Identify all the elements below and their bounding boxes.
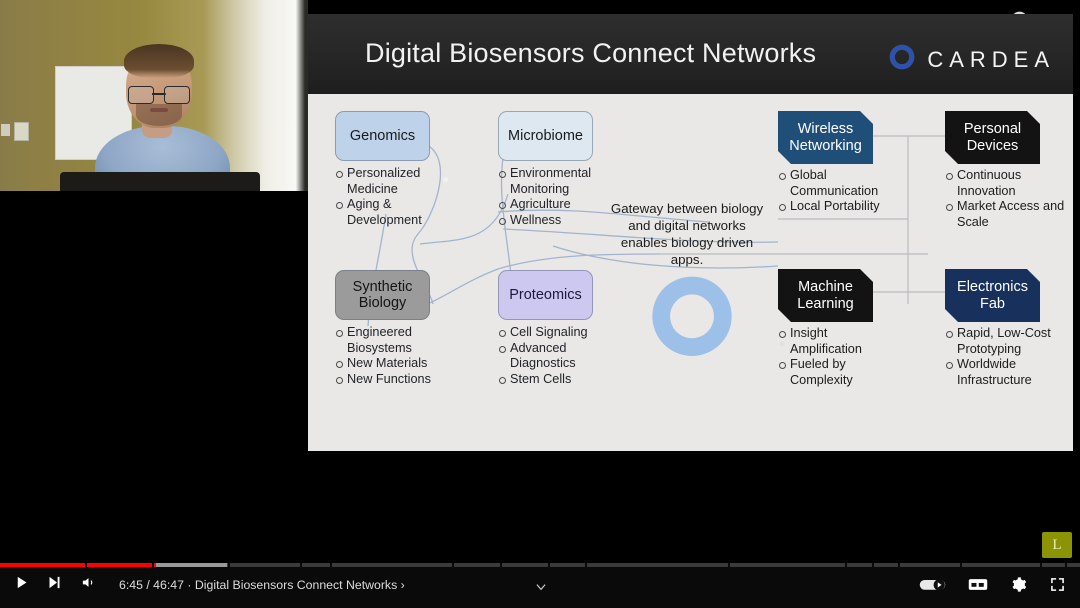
wall-switch [14,122,29,141]
node-label: Electronics Fab [945,279,1040,311]
time-display: 6:45 / 46:47 [119,578,184,592]
bullets-personal-devices: ContinuousInnovation Market Access andSc… [946,168,1066,230]
chapter-markers [0,563,1080,567]
node-microbiome[interactable]: Microbiome [498,111,593,161]
node-proteomics[interactable]: Proteomics [498,270,593,320]
time-and-chapter: 6:45 / 46:47 · Digital Biosensors Connec… [119,578,405,592]
slide-title: Digital Biosensors Connect Networks [365,38,816,69]
slide-header: Digital Biosensors Connect Networks CARD… [308,14,1073,94]
gateway-description: Gateway between biology and digital netw… [604,201,770,269]
glasses-icon [128,86,190,102]
presentation-slide: Digital Biosensors Connect Networks CARD… [308,14,1073,451]
node-label: Genomics [350,128,415,144]
chapter-title[interactable]: Digital Biosensors Connect Networks [195,578,397,592]
progress-bar[interactable] [0,563,1080,567]
fullscreen-button[interactable] [1049,576,1066,598]
left-controls: 6:45 / 46:47 · Digital Biosensors Connec… [14,575,405,595]
bullets-proteomics: Cell Signaling AdvancedDiagnostics Stem … [499,325,614,387]
bullets-electronics-fab: Rapid, Low-CostPrototyping WorldwideInfr… [946,326,1068,388]
node-label: Machine Learning [778,279,873,311]
play-button[interactable] [14,575,29,595]
node-label: Proteomics [509,287,582,303]
right-controls [919,576,1066,598]
node-label: Personal Devices [945,121,1040,153]
node-label: Synthetic Biology [336,279,429,311]
cardea-logo-icon [887,44,917,75]
next-button[interactable] [47,575,62,595]
subtitles-button[interactable] [968,577,988,597]
video-player: Digital Biosensors and the Internet of B… [0,0,1080,608]
speaker-hair [124,44,194,78]
chevron-down-icon[interactable] [534,580,548,599]
wall-plate [1,124,10,136]
desk [60,172,260,191]
volume-button[interactable] [80,575,97,595]
webcam-overlay [0,0,308,191]
cardea-gateway-logo-icon [638,276,746,371]
node-label: Microbiome [508,128,583,144]
player-controls-bar: 6:45 / 46:47 · Digital Biosensors Connec… [0,566,1080,608]
settings-button[interactable] [1010,576,1027,598]
speaker-mouth [150,108,168,112]
bullets-synthetic-biology: EngineeredBiosystems New Materials New F… [336,325,446,387]
bullets-microbiome: EnvironmentalMonitoring Agriculture Well… [499,166,614,228]
node-machine-learning[interactable]: Machine Learning [778,269,873,322]
node-synthetic-biology[interactable]: Synthetic Biology [335,270,430,320]
chapter-arrow: › [401,578,405,592]
node-personal-devices[interactable]: Personal Devices [945,111,1040,164]
slide-body: Gateway between biology and digital netw… [308,94,1073,451]
node-electronics-fab[interactable]: Electronics Fab [945,269,1040,322]
bullets-genomics: PersonalizedMedicine Aging &Development [336,166,446,228]
bullets-wireless-networking: GlobalCommunication Local Portability [779,168,894,215]
node-label: Wireless Networking [778,121,873,153]
bullets-machine-learning: InsightAmplification Fueled byComplexity [779,326,894,388]
channel-watermark[interactable]: L [1042,532,1072,558]
separator: · [187,578,191,592]
brand-name: CARDEA [927,47,1055,73]
autoplay-toggle[interactable] [919,577,946,597]
node-wireless-networking[interactable]: Wireless Networking [778,111,873,164]
node-genomics[interactable]: Genomics [335,111,430,161]
brand-lockup: CARDEA [887,44,1055,75]
